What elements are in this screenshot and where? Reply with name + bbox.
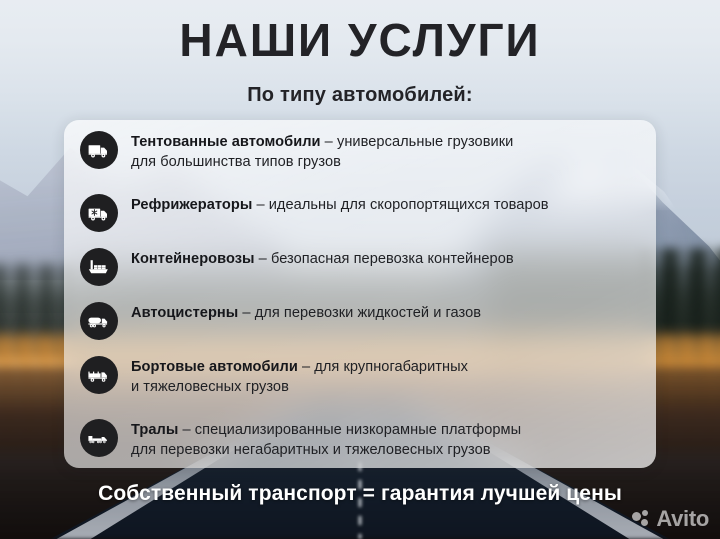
- avito-wordmark: Avito: [656, 508, 709, 530]
- list-item-desc-line1: для крупногабаритных: [314, 359, 468, 375]
- list-item: Тралы – специализированные низкорамные п…: [80, 417, 642, 473]
- avito-watermark: Avito: [632, 508, 709, 530]
- footer-slogan: Собственный транспорт = гарантия лучшей …: [0, 483, 720, 504]
- list-item-dash: –: [255, 251, 271, 267]
- refrigerator-truck-icon: [80, 194, 118, 232]
- list-item-dash: –: [238, 305, 254, 321]
- tanker-truck-icon: [80, 302, 118, 340]
- list-item-title: Рефрижераторы: [131, 197, 252, 213]
- list-item-desc-line1: идеальны для скоропортящихся товаров: [269, 197, 549, 213]
- list-item-title: Контейнеровозы: [131, 251, 255, 267]
- box-truck-icon: [80, 131, 118, 169]
- flatbed-truck-icon: [80, 356, 118, 394]
- list-item-desc-line1: универсальные грузовики: [337, 134, 513, 150]
- list-item-text: Автоцистерны – для перевозки жидкостей и…: [131, 300, 481, 323]
- list-item: Контейнеровозы – безопасная перевозка ко…: [80, 246, 642, 293]
- list-item-desc-line2: для перевозки негабаритных и тяжеловесны…: [131, 442, 491, 458]
- list-item-dash: –: [178, 422, 194, 438]
- list-item-text: Рефрижераторы – идеальны для скоропортящ…: [131, 192, 549, 215]
- list-item-desc-line1: для перевозки жидкостей и газов: [255, 305, 481, 321]
- services-poster: НАШИ УСЛУГИ По типу автомобилей:: [0, 0, 720, 539]
- list-item-dash: –: [321, 134, 337, 150]
- list-item-desc-line2: и тяжеловесных грузов: [131, 379, 289, 395]
- page-subtitle: По типу автомобилей:: [0, 85, 720, 105]
- list-item: Бортовые автомобили – для крупногабаритн…: [80, 354, 642, 410]
- list-item-desc-line1: специализированные низкорамные платформы: [195, 422, 521, 438]
- list-item-title: Тентованные автомобили: [131, 134, 321, 150]
- list-item-desc-line2: для большинства типов грузов: [131, 154, 341, 170]
- list-item-text: Тентованные автомобили – универсальные г…: [131, 129, 513, 172]
- list-item: Автоцистерны – для перевозки жидкостей и…: [80, 300, 642, 347]
- services-card: Тентованные автомобили – универсальные г…: [64, 120, 656, 468]
- list-item-text: Бортовые автомобили – для крупногабаритн…: [131, 354, 468, 397]
- avito-dots-icon: [632, 510, 652, 528]
- list-item: Тентованные автомобили – универсальные г…: [80, 129, 642, 185]
- services-list: Тентованные автомобили – универсальные г…: [80, 129, 642, 459]
- list-item-dash: –: [298, 359, 314, 375]
- list-item-title: Бортовые автомобили: [131, 359, 298, 375]
- list-item-dash: –: [252, 197, 268, 213]
- list-item-text: Контейнеровозы – безопасная перевозка ко…: [131, 246, 514, 269]
- container-ship-icon: [80, 248, 118, 286]
- page-title: НАШИ УСЛУГИ: [0, 17, 720, 63]
- lowboy-trailer-icon: [80, 419, 118, 457]
- list-item-text: Тралы – специализированные низкорамные п…: [131, 417, 521, 460]
- list-item-title: Автоцистерны: [131, 305, 238, 321]
- list-item-desc-line1: безопасная перевозка контейнеров: [271, 251, 514, 267]
- list-item-title: Тралы: [131, 422, 178, 438]
- list-item: Рефрижераторы – идеальны для скоропортящ…: [80, 192, 642, 239]
